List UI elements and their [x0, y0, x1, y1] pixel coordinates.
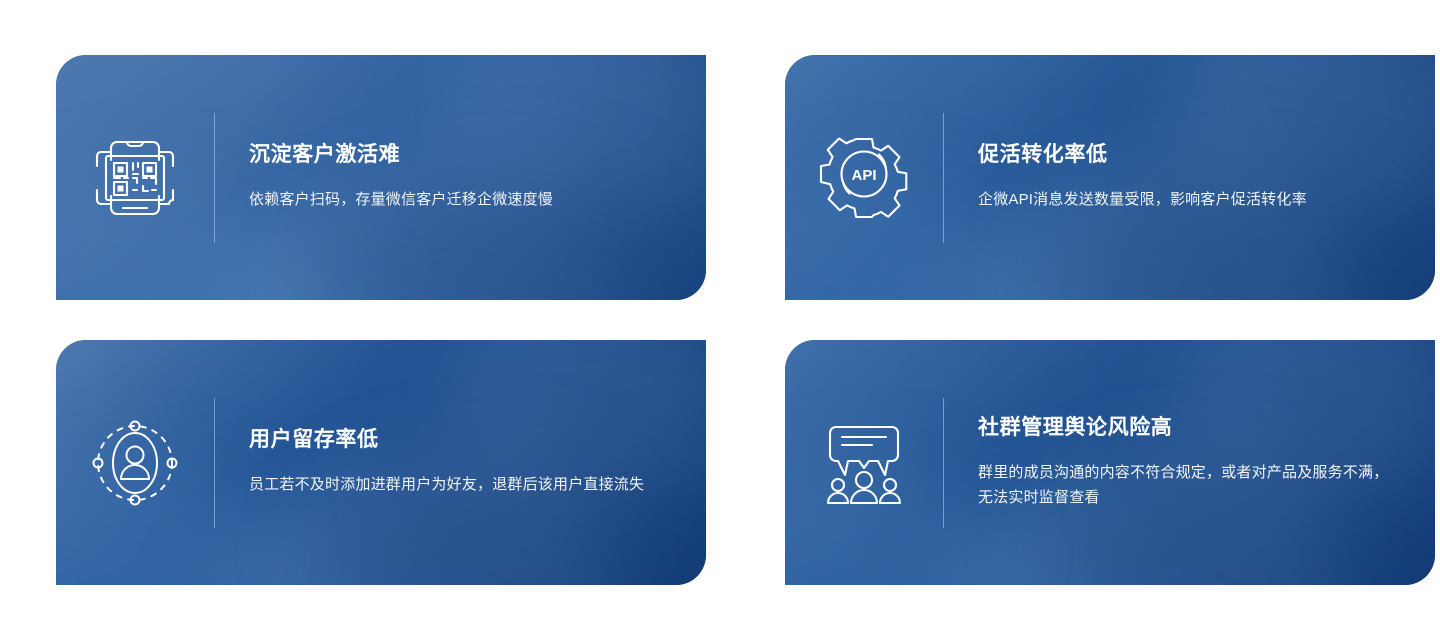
user-orbit-network-icon [56, 417, 214, 509]
group-chat-bubble-icon [785, 417, 943, 509]
card-content: 沉淀客户激活难 依赖客户扫码，存量微信客户迁移企微速度慢 [215, 142, 706, 213]
card-description: 依赖客户扫码，存量微信客户迁移企微速度慢 [249, 188, 661, 212]
card-title: 沉淀客户激活难 [249, 142, 682, 168]
card-user-retention[interactable]: 用户留存率低 员工若不及时添加进群用户为好友，退群后该用户直接流失 [56, 340, 706, 585]
card-title: 社群管理舆论风险高 [978, 415, 1411, 441]
card-community-risk[interactable]: 社群管理舆论风险高 群里的成员沟通的内容不符合规定，或者对产品及服务不满，无法实… [785, 340, 1435, 585]
card-description: 群里的成员沟通的内容不符合规定，或者对产品及服务不满，无法实时监督查看 [978, 461, 1390, 510]
card-description: 企微API消息发送数量受限，影响客户促活转化率 [978, 188, 1390, 212]
api-gear-icon-label: API [851, 167, 876, 184]
pain-point-card-grid: 沉淀客户激活难 依赖客户扫码，存量微信客户迁移企微速度慢 API 促活转化率低 … [0, 0, 1440, 640]
card-conversion-rate[interactable]: API 促活转化率低 企微API消息发送数量受限，影响客户促活转化率 [785, 55, 1435, 300]
card-title: 促活转化率低 [978, 142, 1411, 168]
card-customer-activation[interactable]: 沉淀客户激活难 依赖客户扫码，存量微信客户迁移企微速度慢 [56, 55, 706, 300]
card-title: 用户留存率低 [249, 427, 682, 453]
card-description: 员工若不及时添加进群用户为好友，退群后该用户直接流失 [249, 473, 661, 497]
qr-code-scan-phone-icon [56, 130, 214, 226]
card-content: 社群管理舆论风险高 群里的成员沟通的内容不符合规定，或者对产品及服务不满，无法实… [944, 415, 1435, 510]
card-content: 促活转化率低 企微API消息发送数量受限，影响客户促活转化率 [944, 142, 1435, 213]
api-gear-icon: API [785, 132, 943, 224]
card-content: 用户留存率低 员工若不及时添加进群用户为好友，退群后该用户直接流失 [215, 427, 706, 498]
